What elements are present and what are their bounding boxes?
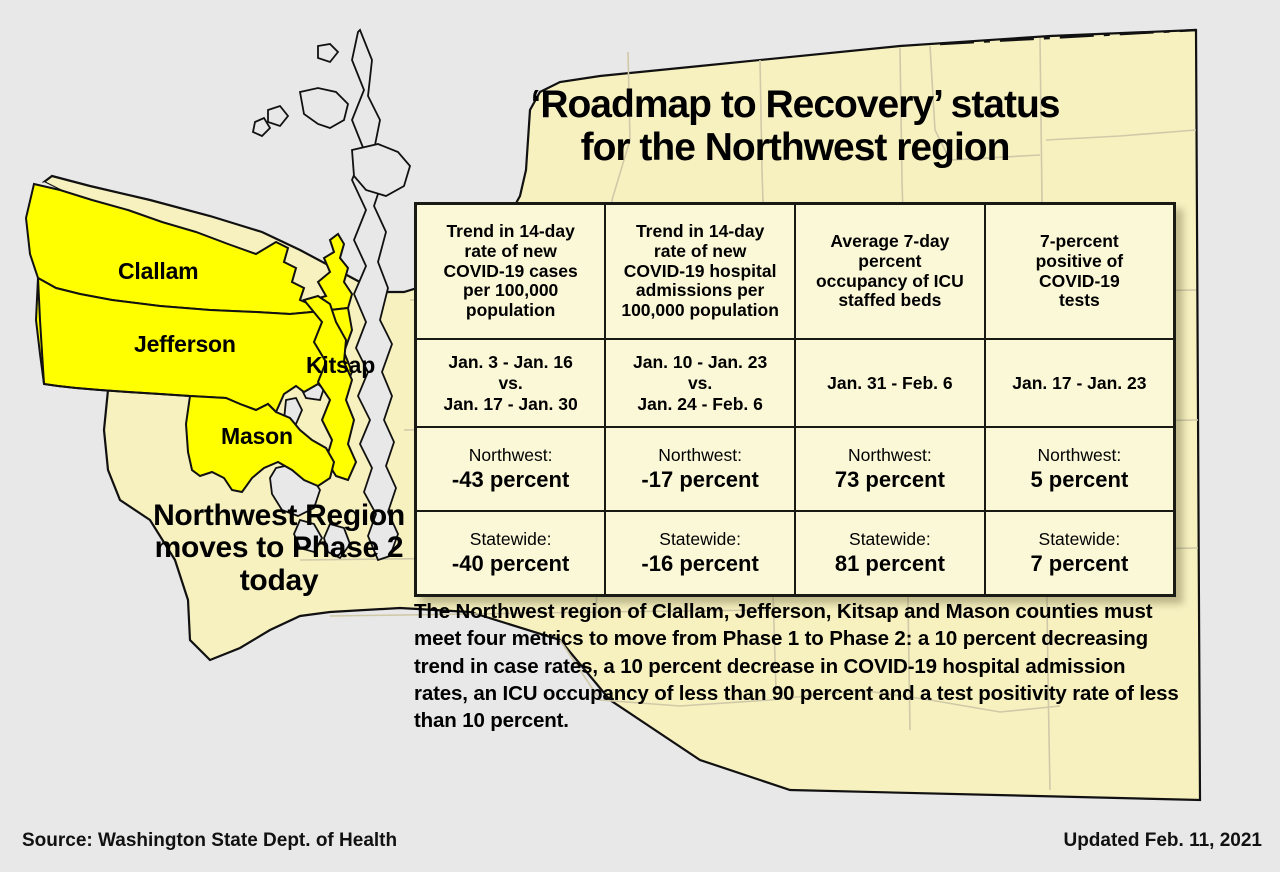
metric-value: -16 percent <box>610 551 790 577</box>
metric-value: 81 percent <box>800 551 980 577</box>
region-label: Statewide: <box>990 529 1169 550</box>
column-header-test-positivity: 7-percent positive of COVID-19 tests <box>985 204 1175 340</box>
phase-callout-text: Northwest Region moves to Phase 2 today <box>150 500 408 597</box>
northwest-icu-occupancy-cell: Northwest: 73 percent <box>795 427 985 511</box>
statewide-case-rate-cell: Statewide: -40 percent <box>416 511 606 596</box>
explanatory-paragraph: The Northwest region of Clallam, Jeffers… <box>414 598 1182 734</box>
region-label: Northwest: <box>610 445 790 466</box>
header-line: staffed beds <box>838 290 941 310</box>
column-header-case-rate: Trend in 14-day rate of new COVID-19 cas… <box>416 204 606 340</box>
map-label-jefferson: Jefferson <box>134 331 236 358</box>
column-header-icu-occupancy: Average 7-day percent occupancy of ICU s… <box>795 204 985 340</box>
date-range-case-rate: Jan. 3 - Jan. 16 vs. Jan. 17 - Jan. 30 <box>416 339 606 427</box>
region-label: Statewide: <box>610 529 790 550</box>
metric-value: -43 percent <box>421 467 600 493</box>
date-line: vs. <box>688 373 712 393</box>
updated-date: Updated Feb. 11, 2021 <box>1063 830 1262 852</box>
table-date-range-row: Jan. 3 - Jan. 16 vs. Jan. 17 - Jan. 30 J… <box>416 339 1175 427</box>
date-range-hospital-admissions: Jan. 10 - Jan. 23 vs. Jan. 24 - Feb. 6 <box>605 339 795 427</box>
date-range-icu-occupancy: Jan. 31 - Feb. 6 <box>795 339 985 427</box>
header-line: 100,000 population <box>621 300 779 320</box>
header-line: Trend in 14-day <box>446 221 574 241</box>
header-line: 7-percent <box>1040 231 1119 251</box>
map-label-mason: Mason <box>221 423 293 450</box>
header-line: per 100,000 <box>463 280 558 300</box>
header-line: COVID-19 <box>1039 271 1120 291</box>
metric-value: 73 percent <box>800 467 980 493</box>
region-label: Northwest: <box>800 445 980 466</box>
header-line: occupancy of ICU <box>816 271 964 291</box>
metrics-table: Trend in 14-day rate of new COVID-19 cas… <box>414 202 1176 597</box>
header-line: percent <box>858 251 921 271</box>
page-title: ‘Roadmap to Recovery’ status for the Nor… <box>414 84 1176 170</box>
date-line: Jan. 17 - Jan. 30 <box>444 394 578 414</box>
region-label: Statewide: <box>800 529 980 550</box>
statewide-test-positivity-cell: Statewide: 7 percent <box>985 511 1175 596</box>
statewide-icu-occupancy-cell: Statewide: 81 percent <box>795 511 985 596</box>
table-row-statewide: Statewide: -40 percent Statewide: -16 pe… <box>416 511 1175 596</box>
metric-value: -40 percent <box>421 551 600 577</box>
map-label-kitsap: Kitsap <box>306 352 375 379</box>
statewide-hospital-admissions-cell: Statewide: -16 percent <box>605 511 795 596</box>
date-range-test-positivity: Jan. 17 - Jan. 23 <box>985 339 1175 427</box>
column-header-hospital-admissions: Trend in 14-day rate of new COVID-19 hos… <box>605 204 795 340</box>
source-credit: Source: Washington State Dept. of Health <box>22 830 397 852</box>
region-label: Northwest: <box>421 445 600 466</box>
header-line: COVID-19 cases <box>444 261 578 281</box>
header-line: tests <box>1059 290 1100 310</box>
infographic-canvas: Clallam Jefferson Kitsap Mason Northwest… <box>0 0 1280 872</box>
table-header-row: Trend in 14-day rate of new COVID-19 cas… <box>416 204 1175 340</box>
region-label: Northwest: <box>990 445 1169 466</box>
date-line: Jan. 17 - Jan. 23 <box>1012 373 1146 393</box>
header-line: population <box>466 300 555 320</box>
northwest-case-rate-cell: Northwest: -43 percent <box>416 427 606 511</box>
metric-value: 5 percent <box>990 467 1169 493</box>
date-line: Jan. 10 - Jan. 23 <box>633 352 767 372</box>
headline-line-2: for the Northwest region <box>414 127 1176 170</box>
header-line: rate of new <box>654 241 746 261</box>
date-line: Jan. 24 - Feb. 6 <box>637 394 762 414</box>
map-label-clallam: Clallam <box>118 258 198 285</box>
headline-line-1: ‘Roadmap to Recovery’ status <box>414 84 1176 127</box>
header-line: COVID-19 hospital <box>624 261 777 281</box>
northwest-test-positivity-cell: Northwest: 5 percent <box>985 427 1175 511</box>
metric-value: -17 percent <box>610 467 790 493</box>
header-line: Trend in 14-day <box>636 221 764 241</box>
header-line: admissions per <box>636 280 764 300</box>
date-line: Jan. 3 - Jan. 16 <box>448 352 573 372</box>
table-row-northwest: Northwest: -43 percent Northwest: -17 pe… <box>416 427 1175 511</box>
date-line: vs. <box>498 373 522 393</box>
region-label: Statewide: <box>421 529 600 550</box>
northwest-hospital-admissions-cell: Northwest: -17 percent <box>605 427 795 511</box>
metric-value: 7 percent <box>990 551 1169 577</box>
header-line: positive of <box>1036 251 1124 271</box>
date-line: Jan. 31 - Feb. 6 <box>827 373 952 393</box>
header-line: Average 7-day <box>830 231 949 251</box>
header-line: rate of new <box>464 241 556 261</box>
